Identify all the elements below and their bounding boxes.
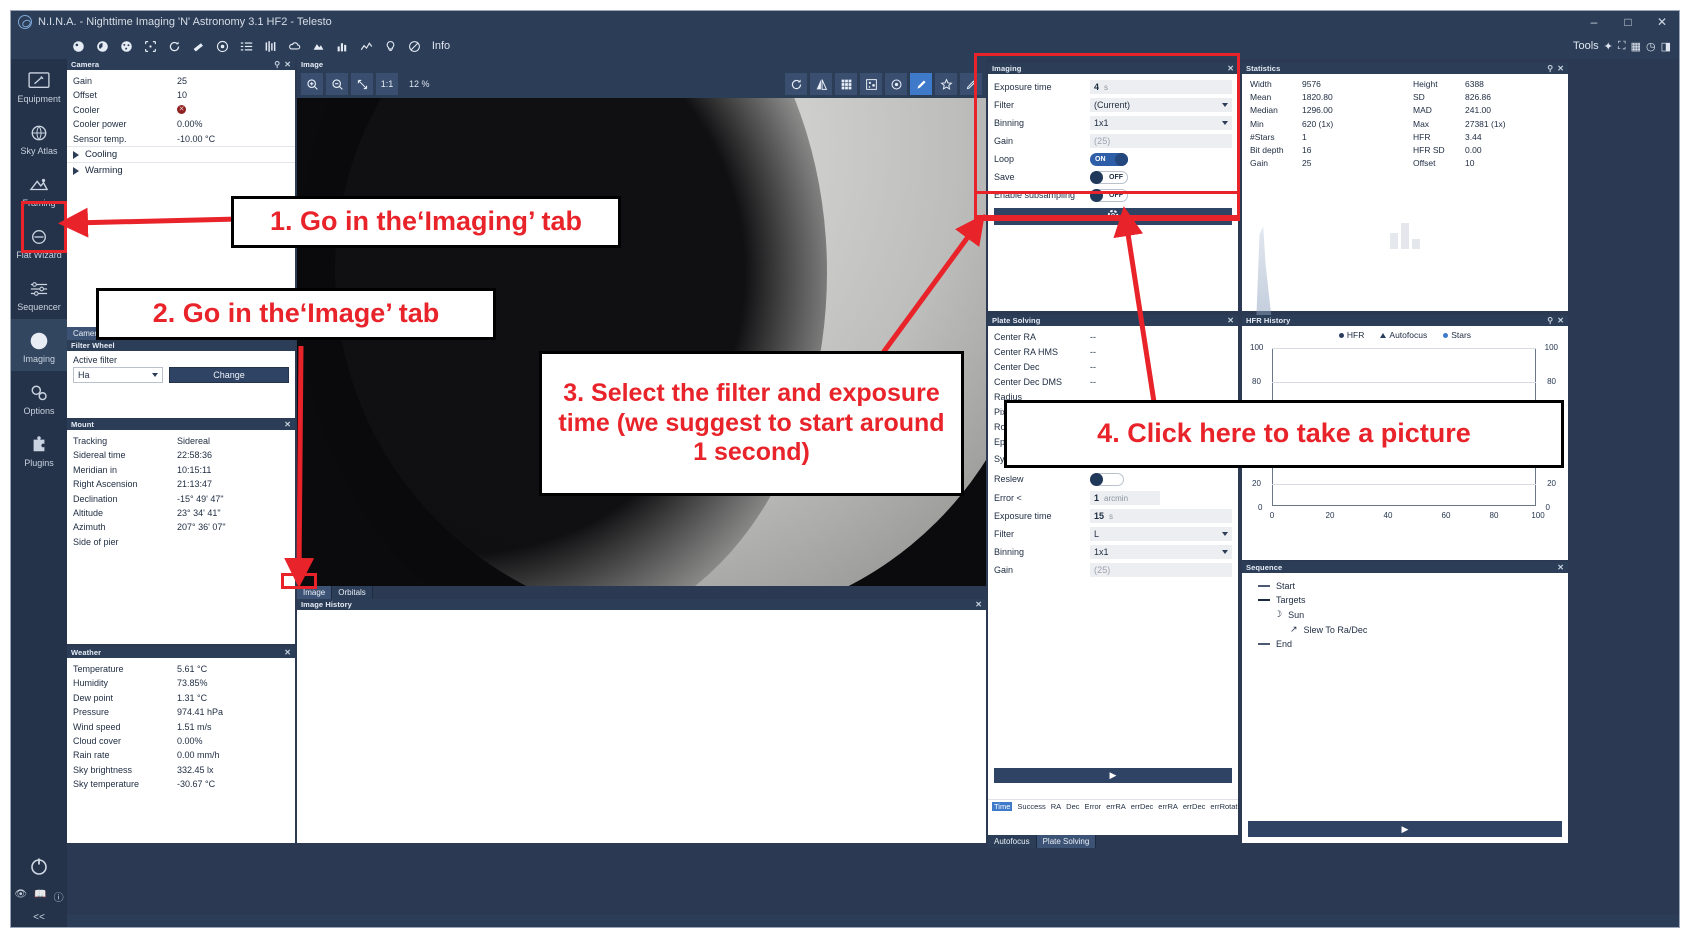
- panel-title: Filter Wheel: [71, 341, 115, 350]
- binning-label: Binning: [994, 547, 1090, 557]
- weather-row: Temperature5.61 °C: [67, 662, 295, 676]
- ytick-right-100: 100: [1545, 343, 1558, 352]
- sidebar-item-sequencer[interactable]: Sequencer: [11, 267, 67, 319]
- exposure-value: 15: [1094, 511, 1104, 521]
- weather-row: Cloud cover0.00%: [67, 734, 295, 748]
- tab-orbitals[interactable]: Orbitals: [332, 586, 373, 599]
- panel-title: Imaging: [992, 64, 1021, 73]
- star-tool-icon[interactable]: ✦: [1604, 40, 1613, 53]
- info-icon[interactable]: ⓘ: [54, 889, 64, 904]
- row-key: Reslew: [994, 474, 1090, 484]
- histogram-spike: [1256, 226, 1272, 326]
- camera-row-gain: Gain 25: [67, 74, 295, 88]
- info-label: Info: [432, 40, 450, 52]
- row-key: Center RA: [994, 332, 1090, 342]
- col-error[interactable]: Error: [1085, 802, 1102, 811]
- row-value: 620 (1x): [1302, 118, 1333, 131]
- sidebar-item-equipment[interactable]: Equipment: [11, 59, 67, 111]
- switch-icon[interactable]: [235, 35, 257, 57]
- sequence-item-label: Slew To Ra/Dec: [1304, 625, 1368, 635]
- mount-row: Declination-15° 49' 47": [67, 492, 295, 506]
- row-value: 0.00%: [177, 734, 203, 748]
- panel-title: Image: [301, 60, 323, 69]
- zoom-out-icon[interactable]: [326, 73, 348, 95]
- exposure-time-input[interactable]: 4 s: [1090, 80, 1232, 94]
- save-label: Save: [994, 172, 1090, 182]
- zoom-in-icon[interactable]: [301, 73, 323, 95]
- xtick-40: 40: [1384, 511, 1393, 520]
- row-value: 9576: [1302, 78, 1321, 91]
- xtick-0: 0: [1270, 511, 1274, 520]
- row-key: Rain rate: [73, 748, 177, 762]
- row-key: SD: [1413, 91, 1465, 104]
- chart-icon[interactable]: [331, 35, 353, 57]
- close-icon[interactable]: ✕: [284, 60, 291, 69]
- sidebar-item-framing[interactable]: Framing: [11, 163, 67, 215]
- row-value: 241.00: [1465, 104, 1491, 117]
- guider-icon[interactable]: [211, 35, 233, 57]
- image-panel-header: Image: [297, 59, 986, 70]
- callout-step-1: 1. Go in the‘Imaging’ tab: [231, 196, 621, 248]
- callout-step-3: 3. Select the filter and exposure time (…: [539, 351, 964, 496]
- rotator-icon[interactable]: [139, 35, 161, 57]
- plate-binning-row: Binning 1x1: [988, 543, 1238, 561]
- close-icon[interactable]: ✕: [1557, 316, 1564, 325]
- maximize-button[interactable]: □: [1611, 11, 1645, 33]
- camera-icon[interactable]: [67, 35, 89, 57]
- settings-icon[interactable]: ◨: [1661, 40, 1671, 53]
- row-value: Sidereal: [177, 434, 210, 448]
- row-value: -10.00 °C: [177, 132, 215, 146]
- plate-exposure-row: Exposure time 15 s: [988, 507, 1238, 525]
- info-toolbar-button[interactable]: Info: [427, 35, 449, 57]
- col-success[interactable]: Success: [1017, 802, 1045, 811]
- annotate-icon[interactable]: [910, 73, 932, 95]
- xtick-60: 60: [1442, 511, 1451, 520]
- one-to-one-button[interactable]: 1:1: [376, 73, 398, 95]
- stat-row: Min620 (1x): [1242, 118, 1405, 131]
- row-value: 974.41 hPa: [177, 705, 223, 719]
- sequencer-icon: [27, 278, 51, 300]
- loop-toggle[interactable]: ON: [1090, 153, 1128, 166]
- weather-panel-header: Weather ✕: [67, 647, 295, 658]
- tab-plate-solving[interactable]: Plate Solving: [1037, 835, 1097, 848]
- row-key: Max: [1413, 118, 1465, 131]
- close-icon[interactable]: ✕: [284, 648, 291, 657]
- graph-icon[interactable]: [355, 35, 377, 57]
- col-ra[interactable]: RA: [1051, 802, 1061, 811]
- row-key: Sensor temp.: [73, 132, 177, 146]
- pin-icon[interactable]: ⚲: [1547, 316, 1557, 325]
- row-key: Meridian in: [73, 463, 177, 477]
- row-key: Gain: [1250, 157, 1302, 170]
- layout-icon[interactable]: ▦: [1631, 40, 1641, 53]
- plate-gain-input[interactable]: (25): [1090, 563, 1232, 577]
- expander-cooling[interactable]: Cooling: [67, 146, 295, 162]
- loop-label: Loop: [994, 154, 1090, 164]
- col-errra[interactable]: errRA: [1106, 802, 1126, 811]
- mount-row: Azimuth207° 36' 07": [67, 520, 295, 534]
- grid-icon[interactable]: [835, 73, 857, 95]
- ytick-right-0: 0: [1546, 503, 1550, 512]
- sequence-item-label: Start: [1276, 581, 1295, 591]
- equipment-icon: [27, 70, 51, 92]
- capture-button[interactable]: [994, 208, 1232, 225]
- row-key: Azimuth: [73, 520, 177, 534]
- moon-terminator-shadow: [297, 98, 827, 586]
- ytick-left-100: 100: [1250, 343, 1263, 352]
- close-icon[interactable]: ✕: [1557, 64, 1564, 73]
- expander-warming[interactable]: Warming: [67, 162, 295, 178]
- plate-exposure-input[interactable]: 15 s: [1090, 509, 1232, 523]
- toolbar-right-group: Tools ✦ ⛶ ▦ ◷ ◨: [1573, 40, 1679, 53]
- col-errra2[interactable]: errRA: [1158, 802, 1178, 811]
- fit-to-screen-icon[interactable]: [351, 73, 373, 95]
- row-value: --: [1090, 377, 1096, 387]
- imaging-panel-header: Imaging ✕: [988, 63, 1238, 74]
- flip-icon[interactable]: [810, 73, 832, 95]
- error-value: 1: [1094, 493, 1099, 503]
- tools-label[interactable]: Tools: [1573, 40, 1599, 52]
- close-icon[interactable]: ✕: [1227, 316, 1234, 325]
- reslew-toggle[interactable]: [1090, 473, 1124, 486]
- col-dec[interactable]: Dec: [1066, 802, 1079, 811]
- filter-wheel-body: Active filter Ha Change: [67, 351, 295, 383]
- ytick-left-0: 0: [1258, 503, 1262, 512]
- subsampling-row: Enable subsampling OFF: [988, 186, 1238, 204]
- gain-input[interactable]: (25): [1090, 134, 1232, 148]
- row-key: Offset: [73, 88, 177, 102]
- nina-application-window: N.I.N.A. - Nighttime Imaging 'N' Astrono…: [10, 10, 1680, 928]
- imaging-panel: Imaging ✕ Exposure time 4 s Filter (Curr…: [988, 63, 1238, 311]
- safety-icon[interactable]: [403, 35, 425, 57]
- save-row: Save OFF: [988, 168, 1238, 186]
- image-history-body: [297, 610, 986, 843]
- error-label: Error <: [994, 493, 1090, 503]
- active-filter-label: Active filter: [67, 351, 295, 367]
- row-key: Humidity: [73, 676, 177, 690]
- sidebar-item-label: Sequencer: [17, 302, 61, 312]
- sidebar-item-imaging[interactable]: Imaging: [11, 319, 67, 371]
- stat-row: HFR3.44: [1405, 131, 1568, 144]
- exposure-time-label: Exposure time: [994, 82, 1090, 92]
- title-bar: N.I.N.A. - Nighttime Imaging 'N' Astrono…: [11, 11, 1679, 33]
- capture-icon: [1107, 208, 1119, 226]
- active-filter-select[interactable]: Ha: [73, 367, 163, 383]
- tab-autofocus[interactable]: Autofocus: [988, 835, 1037, 848]
- minimize-button[interactable]: –: [1577, 11, 1611, 33]
- row-value: 16: [1302, 144, 1311, 157]
- sequence-icon[interactable]: [259, 35, 281, 57]
- stat-row: Median1296.00: [1242, 104, 1405, 117]
- binning-value: 1x1: [1094, 118, 1109, 128]
- rail-utility-icons: 👁 📖 ⓘ: [14, 889, 63, 904]
- row-value: 22:58:36: [177, 448, 212, 462]
- sidebar-item-label: Options: [23, 406, 54, 416]
- close-icon[interactable]: ✕: [975, 600, 982, 609]
- row-key: Side of pier: [73, 535, 177, 549]
- stat-row: Bit depth16: [1242, 144, 1405, 157]
- close-button[interactable]: ✕: [1645, 11, 1679, 33]
- row-key: Center RA HMS: [994, 347, 1090, 357]
- fullscreen-icon[interactable]: ⛶: [1618, 40, 1626, 53]
- plate-solving-header: Plate Solving ✕: [988, 315, 1238, 326]
- image-viewport[interactable]: [297, 98, 986, 586]
- filter-label: Filter: [994, 529, 1090, 539]
- panel-title: Plate Solving: [992, 316, 1040, 325]
- sequence-run-button[interactable]: ▶: [1248, 821, 1562, 837]
- row-value: --: [1090, 347, 1096, 357]
- sequence-item-start[interactable]: Start: [1258, 579, 1568, 593]
- col-errrotation[interactable]: errRotati: [1210, 802, 1239, 811]
- statistics-panel-body: Width9576 Mean1820.80 Median1296.00 Min6…: [1242, 74, 1568, 311]
- camera-row-sensor-temp: Sensor temp. -10.00 °C: [67, 132, 295, 146]
- close-icon[interactable]: ✕: [1227, 64, 1234, 73]
- row-key: Tracking: [73, 434, 177, 448]
- sidebar-item-plugins[interactable]: Plugins: [11, 423, 67, 475]
- sequence-item-targets[interactable]: Targets: [1258, 593, 1568, 607]
- mount-row: Side of pier: [67, 535, 295, 549]
- row-value: --: [1090, 362, 1096, 372]
- row-key: HFR SD: [1413, 144, 1465, 157]
- plate-solving-panel: Plate Solving ✕ Center RA-- Center RA HM…: [988, 315, 1238, 835]
- flip-icon[interactable]: [163, 35, 185, 57]
- col-errdec[interactable]: errDec: [1131, 802, 1154, 811]
- play-icon: ▶: [1110, 770, 1117, 781]
- expander-label: Warming: [85, 165, 123, 176]
- mount-row: Right Ascension21:13:47: [67, 477, 295, 491]
- camera-panel: Camera ⚲ ✕ Gain 25 Offset 10 Cooler ✕ Co…: [67, 59, 295, 327]
- xtick-80: 80: [1490, 511, 1499, 520]
- window-controls: – □ ✕: [1577, 11, 1679, 33]
- framing-icon: [27, 174, 51, 196]
- chevron-down-icon: [1222, 550, 1228, 554]
- weather-row: Pressure974.41 hPa: [67, 705, 295, 719]
- imaging-icon: [27, 330, 51, 352]
- row-key: Gain: [73, 74, 177, 88]
- plate-filter-row: Filter L: [988, 525, 1238, 543]
- panel-title: Camera: [71, 60, 99, 69]
- panel-title: Mount: [71, 420, 94, 429]
- filterwheel-icon[interactable]: [91, 35, 113, 57]
- stat-row: Mean1820.80: [1242, 91, 1405, 104]
- sequence-item-label: Sun: [1288, 610, 1304, 620]
- book-icon[interactable]: 📖: [34, 889, 46, 904]
- plate-gain-row: Gain (25): [988, 561, 1238, 579]
- statistics-col-right: Height6388 SD826.86 MAD241.00 Max27381 (…: [1405, 78, 1568, 170]
- legend-label: Stars: [1451, 330, 1471, 340]
- chevron-down-icon: [1222, 103, 1228, 107]
- subsampling-label: Enable subsampling: [994, 190, 1090, 200]
- row-value: -15° 49' 47": [177, 492, 224, 506]
- row-key: Bit depth: [1250, 144, 1302, 157]
- weather-row: Dew point1.31 °C: [67, 691, 295, 705]
- row-key: Min: [1250, 118, 1302, 131]
- close-icon[interactable]: ✕: [1557, 563, 1564, 572]
- col-errdec2[interactable]: errDec: [1183, 802, 1206, 811]
- plate-row: Center RA--: [988, 329, 1238, 344]
- weather-icon[interactable]: [283, 35, 305, 57]
- eye-icon[interactable]: 👁: [14, 889, 27, 904]
- play-icon: ▶: [1402, 824, 1409, 835]
- row-key: Right Ascension: [73, 477, 177, 491]
- app-logo-icon: [18, 15, 32, 29]
- row-value: --: [1090, 332, 1096, 342]
- clock-icon[interactable]: ◷: [1646, 40, 1656, 53]
- gain-row: Gain (25): [988, 132, 1238, 150]
- sidebar-item-flat-wizard[interactable]: Flat Wizard: [11, 215, 67, 267]
- xtick-100: 100: [1531, 511, 1544, 520]
- binning-row: Binning 1x1: [988, 114, 1238, 132]
- change-filter-button[interactable]: Change: [169, 367, 289, 383]
- weather-row: Sky temperature-30.67 °C: [67, 777, 295, 791]
- legend-hfr[interactable]: HFR: [1339, 330, 1364, 340]
- error-input[interactable]: 1 arcmin: [1090, 491, 1160, 505]
- mount-row: Meridian in10:15:11: [67, 463, 295, 477]
- plugins-icon: [27, 434, 51, 456]
- chevron-right-icon: [73, 151, 79, 159]
- sequence-item-sun[interactable]: ☽ Sun: [1274, 607, 1568, 622]
- stat-row: Gain25: [1242, 157, 1405, 170]
- row-key: Declination: [73, 492, 177, 506]
- telescope-icon[interactable]: [187, 35, 209, 57]
- plate-error-row: Error < 1 arcmin: [988, 489, 1238, 507]
- sidebar-item-label: Flat Wizard: [16, 250, 62, 260]
- sidebar-item-label: Framing: [22, 198, 55, 208]
- sidebar-item-label: Plugins: [24, 458, 54, 468]
- tab-image[interactable]: Image: [297, 586, 332, 599]
- panel-title: Statistics: [1246, 64, 1280, 73]
- sequence-panel-header: Sequence ✕: [1242, 562, 1568, 573]
- sidebar-item-sky-atlas[interactable]: Sky Atlas: [11, 111, 67, 163]
- sidebar-item-label: Equipment: [17, 94, 60, 104]
- statistics-panel-header: Statistics ⚲ ✕: [1242, 63, 1568, 74]
- xtick-20: 20: [1326, 511, 1335, 520]
- row-value: 10: [177, 88, 187, 102]
- bahtinov-icon[interactable]: [885, 73, 907, 95]
- hfr-history-header: HFR History ⚲ ✕: [1242, 315, 1568, 326]
- plate-solve-run-button[interactable]: ▶: [994, 768, 1232, 783]
- row-value: 826.86: [1465, 91, 1491, 104]
- dash-bold-icon: [1258, 599, 1270, 602]
- binning-select[interactable]: 1x1: [1090, 116, 1232, 130]
- mount-panel: Mount ✕ TrackingSidereal Sidereal time22…: [67, 419, 295, 644]
- stat-row: Offset10: [1405, 157, 1568, 170]
- plate-binning-select[interactable]: 1x1: [1090, 545, 1232, 559]
- sequence-item-slew[interactable]: ↗ Slew To Ra/Dec: [1290, 622, 1568, 637]
- star-icon[interactable]: [935, 73, 957, 95]
- ytick-right-80: 80: [1547, 377, 1556, 386]
- filter-label: Filter: [994, 100, 1090, 110]
- pin-icon[interactable]: ⚲: [1547, 64, 1557, 73]
- stat-row: HFR SD0.00: [1405, 144, 1568, 157]
- bulb-icon[interactable]: [379, 35, 401, 57]
- star-detect-icon[interactable]: [860, 73, 882, 95]
- exposure-time-unit: s: [1104, 83, 1108, 92]
- callout-step-4: 4. Click here to take a picture: [1004, 400, 1564, 468]
- rail-bottom-group: 👁 📖 ⓘ <<: [11, 856, 67, 923]
- mount-row: TrackingSidereal: [67, 434, 295, 448]
- row-value: 1296.00: [1302, 104, 1333, 117]
- window-title: N.I.N.A. - Nighttime Imaging 'N' Astrono…: [38, 16, 332, 28]
- legend-autofocus[interactable]: Autofocus: [1380, 330, 1427, 340]
- stat-row: SD826.86: [1405, 91, 1568, 104]
- imaging-panel-body: Exposure time 4 s Filter (Current) Binni…: [988, 74, 1238, 311]
- sequence-item-label: Targets: [1276, 595, 1306, 605]
- row-key: #Stars: [1250, 131, 1302, 144]
- sidebar-item-options[interactable]: Options: [11, 371, 67, 423]
- zoom-level-label: 12 %: [409, 79, 430, 89]
- weather-panel-body: Temperature5.61 °C Humidity73.85% Dew po…: [67, 658, 295, 792]
- focuser-icon[interactable]: [115, 35, 137, 57]
- pick-icon[interactable]: [960, 73, 982, 95]
- mount-panel-header: Mount ✕: [67, 419, 295, 430]
- camera-row-offset: Offset 10: [67, 88, 295, 102]
- error-unit: arcmin: [1104, 494, 1128, 503]
- plate-tabstrip: Autofocus Plate Solving: [988, 835, 1096, 848]
- filter-row: Filter (Current): [988, 96, 1238, 114]
- rotate-icon[interactable]: [785, 73, 807, 95]
- pin-icon[interactable]: ⚲: [274, 60, 284, 69]
- gain-label: Gain: [994, 136, 1090, 146]
- row-key: Center Dec DMS: [994, 377, 1090, 387]
- exposure-label: Exposure time: [994, 511, 1090, 521]
- flat-icon[interactable]: [307, 35, 329, 57]
- filter-controls-row: Ha Change: [67, 367, 295, 383]
- row-value: 5.61 °C: [177, 662, 207, 676]
- row-key: Cooler: [73, 103, 177, 117]
- sequence-item-end[interactable]: End: [1258, 637, 1568, 651]
- plate-row-reslew: Reslew: [988, 469, 1238, 489]
- camera-row-cooler: Cooler ✕: [67, 103, 295, 117]
- row-key: Mean: [1250, 91, 1302, 104]
- row-value: 10:15:11: [177, 463, 211, 477]
- save-toggle[interactable]: OFF: [1090, 171, 1128, 184]
- ytick-left-20: 20: [1252, 479, 1261, 488]
- row-value: -30.67 °C: [177, 777, 215, 791]
- collapse-rail-button[interactable]: <<: [33, 912, 45, 923]
- plate-filter-select[interactable]: L: [1090, 527, 1232, 541]
- panel-title: Sequence: [1246, 563, 1282, 572]
- row-key: Temperature: [73, 662, 177, 676]
- row-key: Sky brightness: [73, 763, 177, 777]
- row-key: HFR: [1413, 131, 1465, 144]
- gain-label: Gain: [994, 565, 1090, 575]
- chevron-down-icon: [1222, 532, 1228, 536]
- subsampling-toggle[interactable]: OFF: [1090, 189, 1128, 202]
- row-key: Cooler power: [73, 117, 177, 131]
- row-value: 332.45 lx: [177, 763, 214, 777]
- row-key: Width: [1250, 78, 1302, 91]
- sequence-panel: Sequence ✕ Start Targets ☽ Sun ↗ Slew To…: [1242, 562, 1568, 843]
- filter-select[interactable]: (Current): [1090, 98, 1232, 112]
- active-filter-value: Ha: [78, 370, 90, 380]
- loop-row: Loop ON: [988, 150, 1238, 168]
- options-icon: [27, 382, 51, 404]
- col-time[interactable]: Time: [992, 802, 1012, 811]
- power-icon[interactable]: [29, 856, 49, 881]
- expander-label: Cooling: [85, 149, 117, 160]
- row-value: 25: [1302, 157, 1311, 170]
- statistics-grid: Width9576 Mean1820.80 Median1296.00 Min6…: [1242, 74, 1568, 170]
- close-icon[interactable]: ✕: [284, 420, 291, 429]
- legend-stars[interactable]: Stars: [1443, 330, 1471, 340]
- row-value: 25: [177, 74, 187, 88]
- binning-value: 1x1: [1094, 547, 1109, 557]
- mount-row: Altitude23° 34' 41": [67, 506, 295, 520]
- camera-panel-header: Camera ⚲ ✕: [67, 59, 295, 70]
- row-key: Cloud cover: [73, 734, 177, 748]
